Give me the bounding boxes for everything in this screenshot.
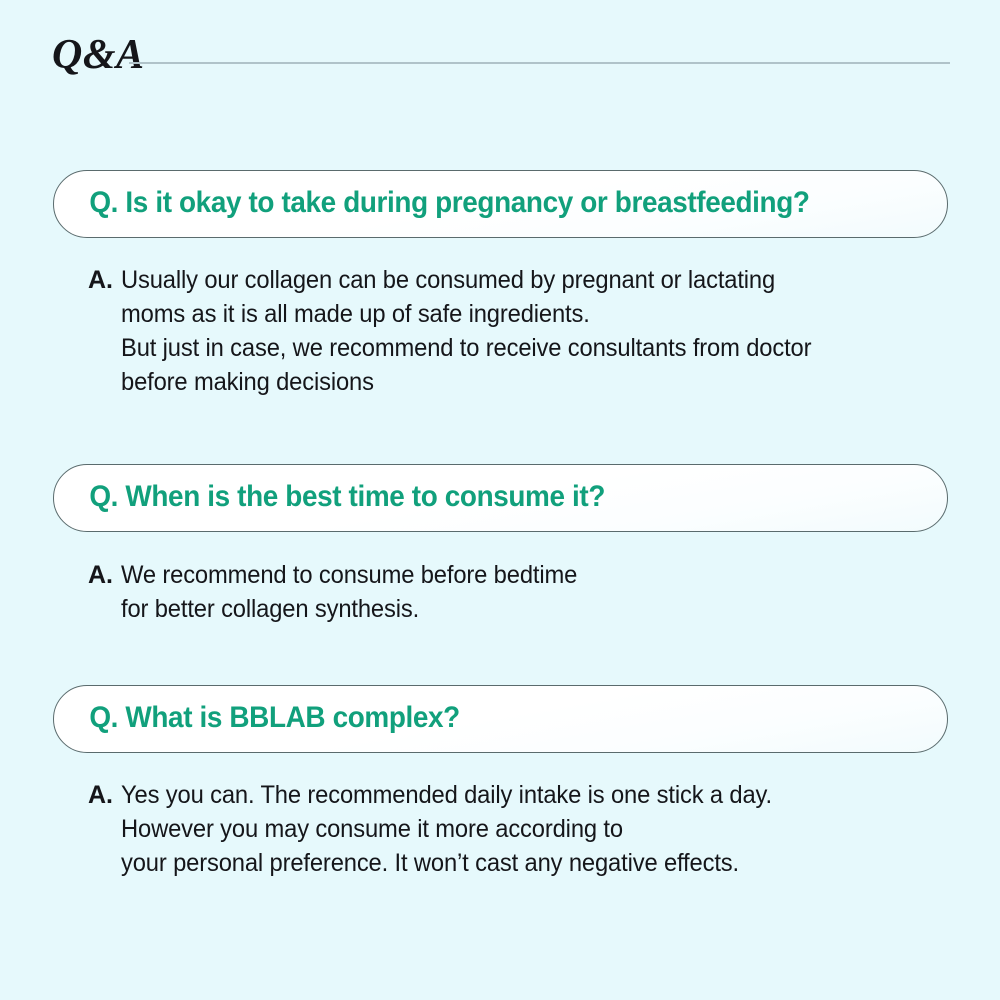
question-text: Q. When is the best time to consume it? — [54, 481, 605, 515]
question-card[interactable]: Q. What is BBLAB complex? — [53, 685, 948, 753]
answer-block: A. Yes you can. The recommended daily in… — [88, 778, 806, 880]
question-card[interactable]: Q. When is the best time to consume it? — [53, 464, 948, 532]
question-text: Q. Is it okay to take during pregnancy o… — [54, 187, 810, 221]
qa-page: Q&A Q. Is it okay to take during pregnan… — [0, 0, 1000, 1000]
answer-line: moms as it is all made up of safe ingred… — [121, 297, 811, 331]
answer-marker: A. — [88, 558, 121, 592]
answer-line: We recommend to consume before bedtime — [121, 558, 577, 592]
answer-line: But just in case, we recommend to receiv… — [121, 331, 811, 365]
question-card[interactable]: Q. Is it okay to take during pregnancy o… — [53, 170, 948, 238]
page-title: Q&A — [52, 33, 145, 77]
answer-line: your personal preference. It won’t cast … — [121, 846, 772, 880]
answer-line: for better collagen synthesis. — [121, 592, 577, 626]
answer-block: A. Usually our collagen can be consumed … — [88, 263, 848, 399]
answer-marker: A. — [88, 778, 121, 812]
answer-block: A. We recommend to consume before bedtim… — [88, 558, 601, 626]
answer-marker: A. — [88, 263, 121, 297]
answer-line: before making decisions — [121, 365, 811, 399]
answer-text: Yes you can. The recommended daily intak… — [121, 778, 806, 880]
question-text: Q. What is BBLAB complex? — [54, 702, 460, 736]
page-header: Q&A — [0, 0, 1000, 110]
answer-line: However you may consume it more accordin… — [121, 812, 772, 846]
answer-line: Usually our collagen can be consumed by … — [121, 263, 811, 297]
answer-text: Usually our collagen can be consumed by … — [121, 263, 848, 399]
answer-text: We recommend to consume before bedtime f… — [121, 558, 601, 626]
answer-line: Yes you can. The recommended daily intak… — [121, 778, 772, 812]
header-divider — [129, 62, 950, 64]
